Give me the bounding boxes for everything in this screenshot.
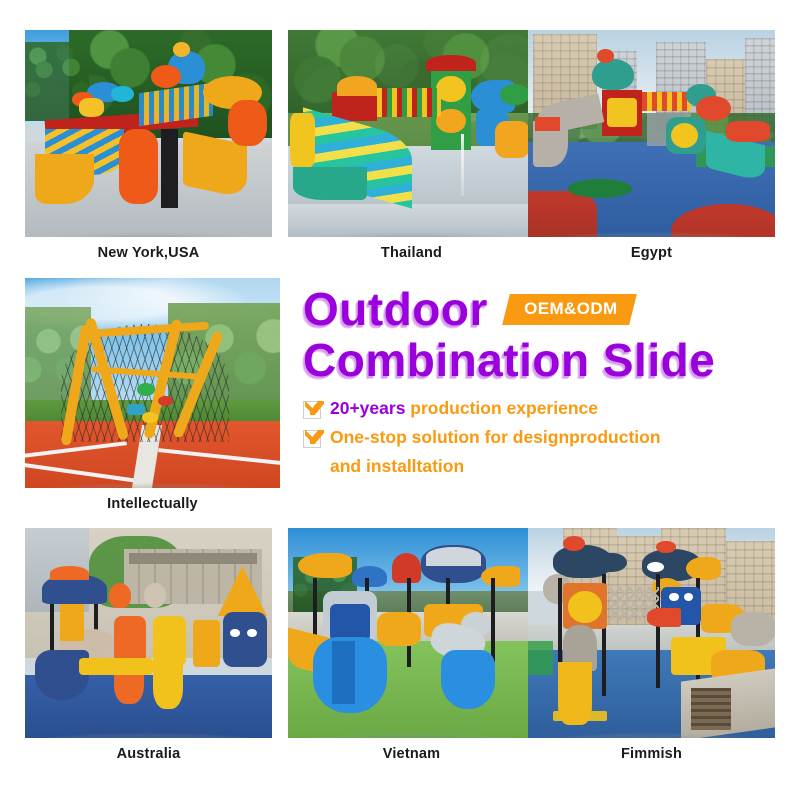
feature-text: 20+years production experience — [330, 396, 598, 421]
gallery-item-new-york[interactable]: New York,USA — [25, 30, 272, 237]
gallery-caption: Thailand — [288, 245, 535, 261]
check-icon — [303, 401, 321, 419]
headline-line-2: Combination Slide — [303, 337, 783, 384]
oem-odm-badge-label: OEM&ODM — [524, 299, 617, 319]
photo-vietnam — [288, 528, 535, 738]
headline-block: Outdoor OEM&ODM Combination Slide — [303, 286, 783, 384]
check-icon — [303, 430, 321, 448]
gallery-item-intellectually[interactable]: Intellectually — [25, 278, 280, 488]
feature-text: One-stop solution for designproduction — [330, 425, 661, 450]
gallery-caption: Egypt — [528, 245, 775, 261]
photo-thailand — [288, 30, 535, 237]
photo-intellectually — [25, 278, 280, 488]
feature-item: One-stop solution for designproduction — [303, 425, 783, 450]
feature-item: 20+years production experience — [303, 396, 783, 421]
gallery-item-thailand[interactable]: Thailand — [288, 30, 535, 237]
feature-list: 20+years production experience One-stop … — [303, 396, 783, 479]
gallery-caption: Vietnam — [288, 746, 535, 762]
oem-odm-badge: OEM&ODM — [502, 294, 637, 325]
photo-fimmish — [528, 528, 775, 738]
gallery-caption: Fimmish — [528, 746, 775, 762]
feature-rest: production experience — [405, 398, 598, 418]
gallery-item-egypt[interactable]: Egypt — [528, 30, 775, 237]
gallery-caption: Intellectually — [25, 496, 280, 512]
poster: New York,USA — [0, 0, 800, 800]
photo-egypt — [528, 30, 775, 237]
photo-australia — [25, 528, 272, 738]
gallery-item-fimmish[interactable]: Fimmish — [528, 528, 775, 738]
feature-highlight: 20+years — [330, 398, 405, 418]
gallery-caption: New York,USA — [25, 245, 272, 261]
gallery-item-australia[interactable]: Australia — [25, 528, 272, 738]
gallery-caption: Australia — [25, 746, 272, 762]
headline-line-1: Outdoor — [303, 286, 488, 333]
feature-text-continuation: and installtation — [330, 454, 783, 479]
gallery-item-vietnam[interactable]: Vietnam — [288, 528, 535, 738]
photo-new-york — [25, 30, 272, 237]
